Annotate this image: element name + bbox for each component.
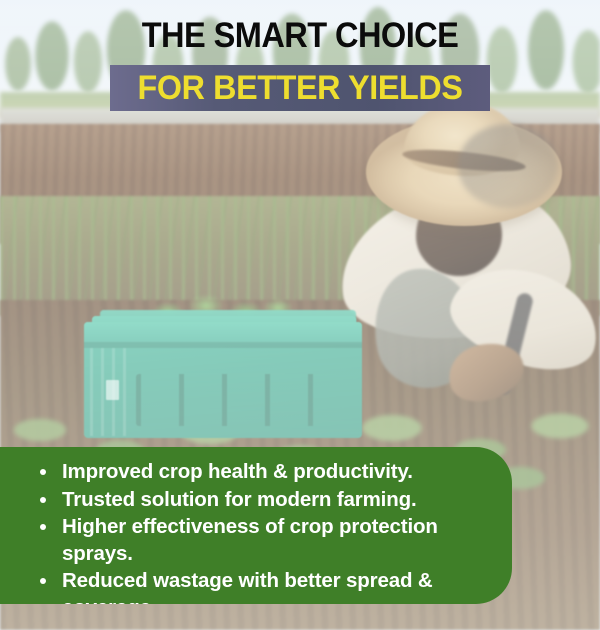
promo-poster: THE SMART CHOICE FOR BETTER YIELDS Impro… <box>0 0 600 630</box>
straw-hat-shadow <box>458 124 558 208</box>
list-item: Reduced wastage with better spread & cov… <box>40 568 496 604</box>
crate-vent-slots <box>136 374 326 426</box>
crate-label <box>106 380 119 400</box>
subheadline-banner: FOR BETTER YIELDS <box>110 65 490 111</box>
benefits-panel: Improved crop health & productivity. Tru… <box>0 447 512 604</box>
list-item: Trusted solution for modern farming. <box>40 487 496 514</box>
benefits-list: Improved crop health & productivity. Tru… <box>0 447 512 604</box>
subheadline-text: FOR BETTER YIELDS <box>138 69 463 107</box>
crate-rim <box>84 322 362 344</box>
list-item: Higher effectiveness of crop protection … <box>40 514 496 567</box>
page-title: THE SMART CHOICE <box>21 16 579 56</box>
harvest-crates <box>84 296 384 446</box>
crate-front <box>84 322 362 438</box>
list-item: Improved crop health & productivity. <box>40 459 496 486</box>
